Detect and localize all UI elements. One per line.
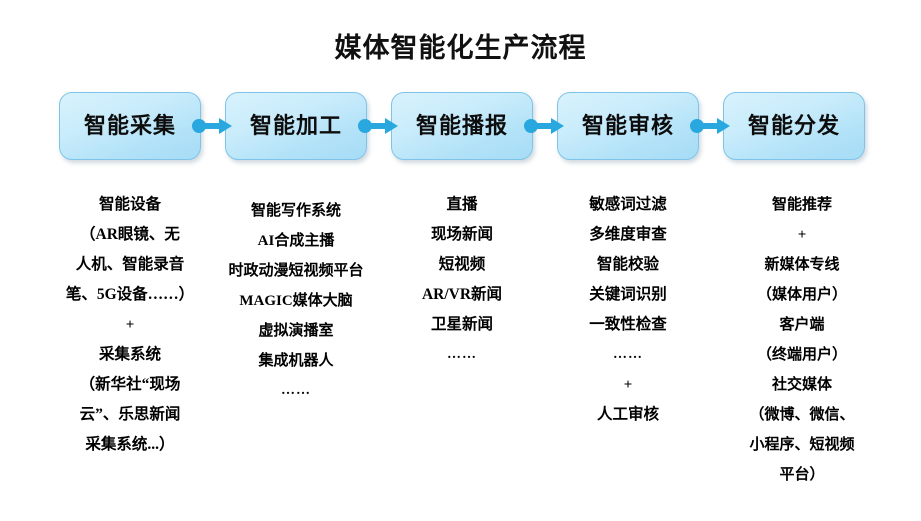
arrow-right-icon-4 xyxy=(690,118,730,134)
detail-columns: 智能设备（AR眼镜、无人机、智能录音笔、5G设备……）+采集系统（新华社“现场云… xyxy=(0,186,921,506)
detail-line: 社交媒体 xyxy=(705,370,899,400)
stage-label: 智能播报 xyxy=(416,115,508,137)
connector-arrowhead xyxy=(717,118,730,134)
detail-line: 敏感词过滤 xyxy=(541,190,715,220)
connector-arrowhead xyxy=(385,118,398,134)
stage-box-1[interactable]: 智能采集 xyxy=(59,92,201,160)
detail-line: （微博、微信、 xyxy=(705,400,899,430)
detail-line: …… xyxy=(383,340,541,370)
detail-line: …… xyxy=(196,376,396,406)
stage-box-5[interactable]: 智能分发 xyxy=(723,92,865,160)
flow-row: 智能采集 智能加工 智能播报 智能审核 智能分发 xyxy=(0,92,921,170)
detail-column-4: 敏感词过滤多维度审查智能校验关键词识别一致性检查……+人工审核 xyxy=(541,190,715,430)
detail-line: （终端用户） xyxy=(705,340,899,370)
detail-line: 新媒体专线 xyxy=(705,250,899,280)
detail-line: 虚拟演播室 xyxy=(196,316,396,346)
arrow-right-icon-2 xyxy=(358,118,398,134)
detail-line: 智能写作系统 xyxy=(196,196,396,226)
arrow-right-icon-1 xyxy=(192,118,232,134)
page-title: 媒体智能化生产流程 xyxy=(0,26,921,65)
stage-label: 智能加工 xyxy=(250,115,342,137)
detail-column-2: 智能写作系统AI合成主播时政动漫短视频平台MAGIC媒体大脑虚拟演播室集成机器人… xyxy=(196,196,396,406)
detail-line: 智能推荐 xyxy=(705,190,899,220)
detail-line: AR/VR新闻 xyxy=(383,280,541,310)
detail-line: …… xyxy=(541,340,715,370)
detail-line: 时政动漫短视频平台 xyxy=(196,256,396,286)
connector-arrowhead xyxy=(219,118,232,134)
stage-box-2[interactable]: 智能加工 xyxy=(225,92,367,160)
detail-line: + xyxy=(705,220,899,250)
detail-line: 智能校验 xyxy=(541,250,715,280)
detail-column-5: 智能推荐+新媒体专线（媒体用户）客户端（终端用户）社交媒体（微博、微信、小程序、… xyxy=(705,190,899,490)
detail-line: 现场新闻 xyxy=(383,220,541,250)
detail-line: 短视频 xyxy=(383,250,541,280)
arrow-right-icon-3 xyxy=(524,118,564,134)
stage-box-3[interactable]: 智能播报 xyxy=(391,92,533,160)
detail-line: 集成机器人 xyxy=(196,346,396,376)
detail-line: 一致性检查 xyxy=(541,310,715,340)
detail-line: 平台） xyxy=(705,460,899,490)
detail-line: 小程序、短视频 xyxy=(705,430,899,460)
detail-column-3: 直播现场新闻短视频AR/VR新闻卫星新闻…… xyxy=(383,190,541,370)
detail-line: 直播 xyxy=(383,190,541,220)
detail-line: 多维度审查 xyxy=(541,220,715,250)
detail-line: 采集系统...） xyxy=(22,430,238,460)
detail-line: MAGIC媒体大脑 xyxy=(196,286,396,316)
detail-line: + xyxy=(541,370,715,400)
stage-label: 智能采集 xyxy=(84,115,176,137)
detail-line: 客户端 xyxy=(705,310,899,340)
detail-line: （媒体用户） xyxy=(705,280,899,310)
stage-label: 智能审核 xyxy=(582,115,674,137)
connector-arrowhead xyxy=(551,118,564,134)
stage-label: 智能分发 xyxy=(748,115,840,137)
detail-line: 人工审核 xyxy=(541,400,715,430)
detail-line: 关键词识别 xyxy=(541,280,715,310)
detail-line: 卫星新闻 xyxy=(383,310,541,340)
detail-line: AI合成主播 xyxy=(196,226,396,256)
stage-box-4[interactable]: 智能审核 xyxy=(557,92,699,160)
flow-diagram: 媒体智能化生产流程 智能采集 智能加工 智能播报 智能审核 智能分发 xyxy=(0,0,921,521)
